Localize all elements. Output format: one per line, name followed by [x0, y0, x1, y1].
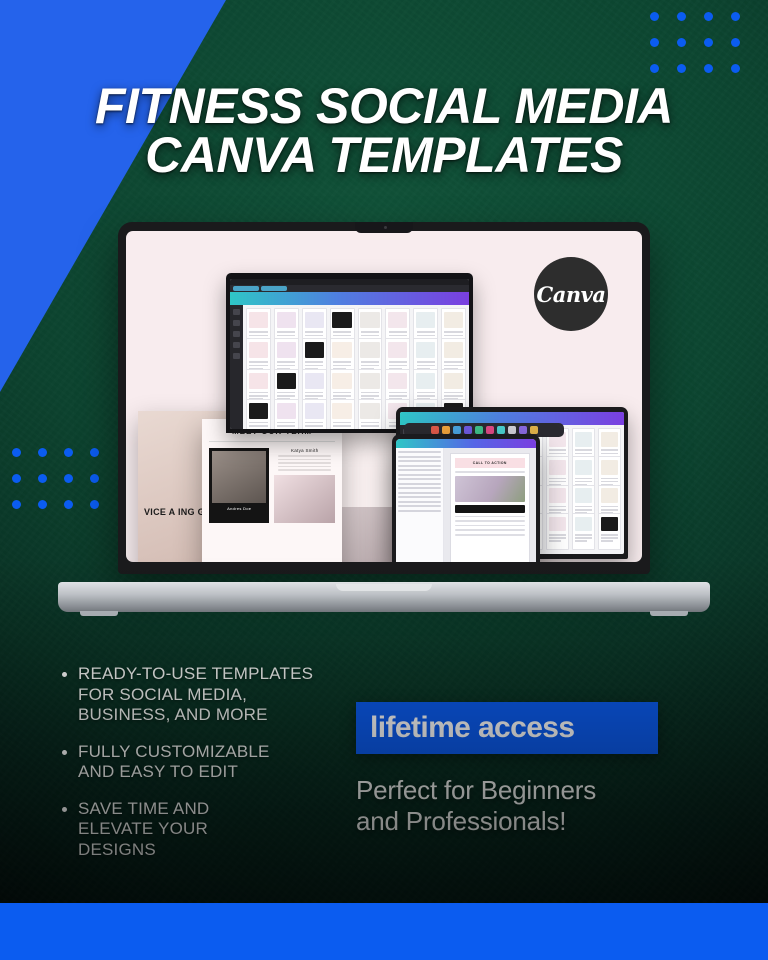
team-member-card: Andres Doe — [209, 448, 269, 523]
template-thumbnail — [546, 513, 569, 550]
dot — [650, 12, 659, 21]
dot — [704, 12, 713, 21]
team-member-name: Andres Doe — [212, 506, 266, 511]
flyer-team-row: Andres Doe Katya Smith — [209, 448, 335, 523]
dock-app-icon — [431, 426, 439, 434]
editor-toolbar — [230, 292, 469, 305]
dot — [650, 64, 659, 73]
dock-app-icon — [464, 426, 472, 434]
editor-sidebar — [230, 305, 243, 429]
dot — [12, 500, 21, 509]
lifetime-access-badge: lifetime access — [356, 702, 658, 754]
dock-app-icon — [508, 426, 516, 434]
dot — [731, 38, 740, 47]
text-line — [455, 516, 525, 518]
team-member-photo-2 — [274, 475, 335, 523]
template-thumbnail — [572, 513, 595, 550]
feature-list: READY-TO-USE TEMPLATES FOR SOCIAL MEDIA,… — [62, 664, 362, 877]
dot — [677, 12, 686, 21]
list-item: READY-TO-USE TEMPLATES FOR SOCIAL MEDIA,… — [62, 664, 362, 726]
dock-app-icon — [442, 426, 450, 434]
text-line — [455, 525, 525, 527]
dot — [731, 12, 740, 21]
team-member-bio: Katya Smith — [274, 448, 335, 523]
dot — [677, 38, 686, 47]
text-line — [455, 520, 525, 522]
text-line — [455, 534, 525, 536]
dock-app-icon — [530, 426, 538, 434]
tablet-body: CALL TO ACTION — [396, 448, 536, 562]
editor-tabs — [230, 285, 469, 292]
lifetime-access-label: lifetime access — [370, 711, 574, 745]
dot — [12, 448, 21, 457]
dot — [677, 64, 686, 73]
text-line — [278, 455, 331, 457]
laptop-lid: Canva VICE A ING GU CLIENT BYE PACKET NO… — [118, 222, 650, 574]
template-thumbnail — [246, 399, 271, 429]
text-line — [278, 466, 331, 468]
dock-app-icon — [497, 426, 505, 434]
bullet-dot-icon — [62, 807, 67, 812]
text-line — [278, 462, 331, 464]
template-thumbnail — [330, 399, 355, 429]
team-member-photo — [212, 451, 266, 503]
flyer-meet-our-team: MEET OUR TEAM Andres Doe Katya Smith — [202, 419, 342, 562]
template-thumbnail — [274, 399, 299, 429]
bullet-dot-icon — [62, 672, 67, 677]
tablet-screen: CALL TO ACTION — [396, 439, 536, 562]
device-mockup-laptop: Canva VICE A ING GU CLIENT BYE PACKET NO… — [58, 222, 710, 612]
text-line — [455, 529, 525, 531]
dot — [704, 64, 713, 73]
list-item: FULLY CUSTOMIZABLE AND EASY TO EDIT — [62, 742, 362, 783]
bullet-dot-icon — [62, 750, 67, 755]
document-image — [455, 476, 525, 502]
list-item: SAVE TIME AND ELEVATE YOUR DESIGNS — [62, 799, 362, 861]
document-heading: CALL TO ACTION — [455, 458, 525, 468]
tablet-sidebar — [396, 448, 444, 562]
laptop-foot-left — [80, 611, 118, 616]
feature-text: READY-TO-USE TEMPLATES FOR SOCIAL MEDIA,… — [78, 664, 313, 726]
bottom-accent-bar — [0, 903, 768, 960]
canva-logo-badge: Canva — [534, 257, 608, 331]
poster: FITNESS SOCIAL MEDIA CANVA TEMPLATES Can… — [0, 0, 768, 960]
promo-subtitle: Perfect for Beginners and Professionals! — [356, 775, 696, 836]
dot — [12, 474, 21, 483]
template-thumbnail — [358, 399, 383, 429]
camera-notch-icon — [355, 222, 413, 233]
tablet-document-area: CALL TO ACTION — [444, 448, 536, 562]
page-title: FITNESS SOCIAL MEDIA CANVA TEMPLATES — [0, 82, 768, 180]
dot — [704, 38, 713, 47]
dock-app-icon — [453, 426, 461, 434]
text-line — [278, 469, 331, 471]
dot — [38, 448, 47, 457]
laptop-foot-right — [650, 611, 688, 616]
dot — [731, 64, 740, 73]
dot — [38, 500, 47, 509]
feature-text: SAVE TIME AND ELEVATE YOUR DESIGNS — [78, 799, 209, 861]
dot — [38, 474, 47, 483]
document-cta-button — [455, 505, 525, 513]
dot — [650, 38, 659, 47]
document-page: CALL TO ACTION — [450, 453, 530, 562]
text-line — [278, 459, 331, 461]
tablet-toolbar — [396, 439, 536, 448]
dock-app-icon — [475, 426, 483, 434]
team-member-name-2: Katya Smith — [274, 448, 335, 453]
template-thumbnail — [302, 399, 327, 429]
feature-text: FULLY CUSTOMIZABLE AND EASY TO EDIT — [78, 742, 270, 783]
device-mockup-tablet: CALL TO ACTION — [392, 434, 540, 562]
laptop-base — [58, 582, 710, 612]
template-thumbnail — [598, 513, 621, 550]
text-line — [455, 471, 525, 473]
dock-app-icon — [486, 426, 494, 434]
dock-app-icon — [519, 426, 527, 434]
laptop-screen: Canva VICE A ING GU CLIENT BYE PACKET NO… — [126, 231, 642, 562]
